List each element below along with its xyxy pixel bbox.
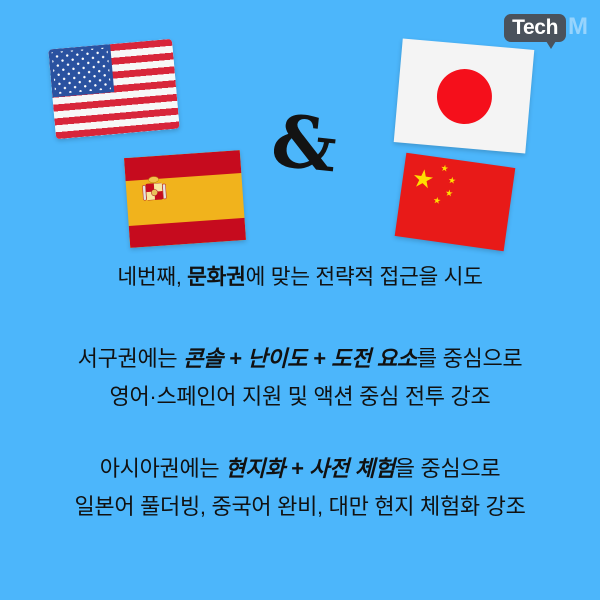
- heading-part-1: 네번째,: [117, 265, 187, 289]
- west-paragraph: 서구권에는 콘솔 + 난이도 + 도전 요소를 중심으로 영어·스페인어 지원 …: [0, 344, 600, 412]
- asia-line-1-part-2: 을 중심으로: [395, 456, 501, 481]
- techm-logo: Tech M: [504, 14, 588, 48]
- asia-line-1: 아시아권에는 현지화 + 사전 체험을 중심으로: [0, 454, 600, 484]
- west-line-1-part-1: 서구권에는: [78, 346, 184, 371]
- heading-emphasis: 문화권: [187, 265, 245, 289]
- jp-sun-disc: [434, 66, 494, 126]
- logo-tech-text: Tech: [512, 17, 558, 38]
- cn-star-small-4: ★: [432, 196, 441, 206]
- heading-line: 네번째, 문화권에 맞는 전략적 접근을 시도: [0, 262, 600, 292]
- flag-japan: [394, 38, 535, 153]
- heading-part-2: 에 맞는 전략적 접근을 시도: [246, 265, 483, 289]
- asia-paragraph: 아시아권에는 현지화 + 사전 체험을 중심으로 일본어 풀더빙, 중국어 완비…: [0, 454, 600, 522]
- ampersand-separator: &: [268, 100, 336, 186]
- es-band-bottom: [129, 217, 246, 248]
- asia-line-2: 일본어 풀더빙, 중국어 완비, 대만 현지 체험화 강조: [0, 492, 600, 522]
- cn-star-large: ★: [410, 166, 436, 194]
- west-line-1-emphasis: 콘솔 + 난이도 + 도전 요소: [183, 346, 417, 371]
- card-canvas: Tech M ★ ★ ★ ★: [0, 0, 600, 600]
- logo-speech-bubble-icon: Tech: [504, 14, 566, 42]
- us-canton: [48, 44, 113, 98]
- west-line-1: 서구권에는 콘솔 + 난이도 + 도전 요소를 중심으로: [0, 344, 600, 374]
- heading-paragraph: 네번째, 문화권에 맞는 전략적 접근을 시도: [0, 262, 600, 292]
- cn-star-small-1: ★: [440, 164, 449, 174]
- us-stars-row-b: [52, 47, 111, 94]
- cn-star-small-2: ★: [447, 176, 456, 186]
- cn-star-small-3: ★: [445, 189, 454, 199]
- text-content: 네번째, 문화권에 맞는 전략적 접근을 시도 서구권에는 콘솔 + 난이도 +…: [0, 262, 600, 522]
- logo-m-mark: M: [568, 15, 588, 39]
- flag-china: ★ ★ ★ ★ ★: [395, 153, 516, 251]
- flag-spain: [124, 150, 246, 248]
- west-line-1-part-2: 를 중심으로: [417, 346, 523, 371]
- flag-united-states: [48, 39, 179, 139]
- west-line-2: 영어·스페인어 지원 및 액션 중심 전투 강조: [0, 382, 600, 412]
- asia-line-1-emphasis: 현지화 + 사전 체험: [225, 456, 395, 481]
- asia-line-1-part-1: 아시아권에는: [100, 456, 225, 481]
- spain-coat-of-arms-icon: [141, 175, 167, 206]
